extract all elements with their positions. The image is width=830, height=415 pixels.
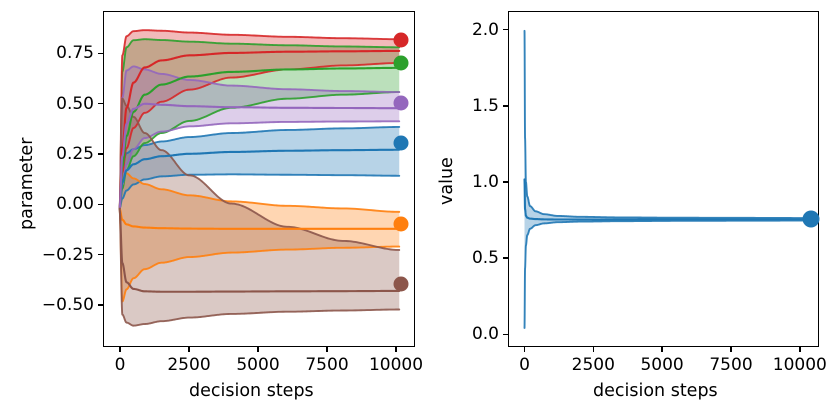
right-ytick-4: [503, 334, 508, 336]
left-yticklabel-1: 0.50: [24, 94, 94, 114]
right-xticklabel-1: 2500: [572, 355, 615, 375]
left-yticklabel-4: −0.25: [18, 245, 94, 265]
left-xticklabel-3: 7500: [305, 355, 348, 375]
left-yticklabel-0: 0.75: [24, 43, 94, 63]
left-xtick-2: [257, 347, 259, 352]
endpoint-dot-green: [394, 55, 409, 70]
endpoint-dot-value: [803, 211, 820, 228]
right-xticklabel-4: 10000: [773, 355, 827, 375]
right-xtick-2: [661, 347, 663, 352]
right-ytick-0: [503, 29, 508, 31]
band-edge-lower-value-series: [524, 220, 803, 327]
right-xticklabel-0: 0: [519, 355, 530, 375]
right-xaxis-title: decision steps: [593, 381, 718, 401]
endpoint-dot-purple: [394, 96, 409, 111]
endpoint-dot-brown: [394, 277, 409, 292]
left-ytick-4: [98, 254, 103, 256]
figure-root: 0.75 0.50 0.25 0.00 −0.25 −0.50 0 2500 5…: [0, 0, 830, 415]
left-xaxis-title: decision steps: [189, 381, 314, 401]
left-xtick-0: [119, 347, 121, 352]
right-yticklabel-0: 2.0: [444, 20, 499, 40]
left-xticklabel-2: 5000: [236, 355, 279, 375]
right-xtick-0: [524, 347, 526, 352]
endpoint-dot-orange: [394, 216, 409, 231]
right-ytick-3: [503, 257, 508, 259]
right-yticklabel-4: 0.0: [444, 324, 499, 344]
left-yaxis-title: parameter: [17, 138, 37, 230]
right-xtick-3: [730, 347, 732, 352]
line-value-series: [524, 179, 803, 219]
right-xtick-1: [593, 347, 595, 352]
left-xtick-4: [395, 347, 397, 352]
left-xtick-1: [188, 347, 190, 352]
left-ytick-1: [98, 103, 103, 105]
left-ytick-0: [98, 53, 103, 55]
right-yticklabel-1: 1.5: [444, 96, 499, 116]
endpoint-dot-red: [394, 33, 409, 48]
left-plot-canvas: [105, 13, 414, 346]
left-ytick-3: [98, 204, 103, 206]
endpoint-dot-blue: [394, 136, 409, 151]
left-xtick-3: [326, 347, 328, 352]
left-xticklabel-4: 10000: [369, 355, 423, 375]
left-ytick-5: [98, 304, 103, 306]
band-edge-upper-value-series: [524, 30, 803, 217]
right-xticklabel-2: 5000: [640, 355, 683, 375]
right-xtick-4: [799, 347, 801, 352]
right-xticklabel-3: 7500: [709, 355, 752, 375]
right-yticklabel-3: 0.5: [444, 248, 499, 268]
right-ytick-1: [503, 105, 508, 107]
band-value-series: [524, 30, 803, 327]
left-xticklabel-0: 0: [115, 355, 126, 375]
left-yticklabel-5: −0.50: [18, 295, 94, 315]
left-xticklabel-1: 2500: [167, 355, 210, 375]
right-yaxis-title: value: [437, 157, 457, 205]
right-plot-canvas: [510, 13, 818, 346]
right-ytick-2: [503, 181, 508, 183]
left-ytick-2: [98, 153, 103, 155]
